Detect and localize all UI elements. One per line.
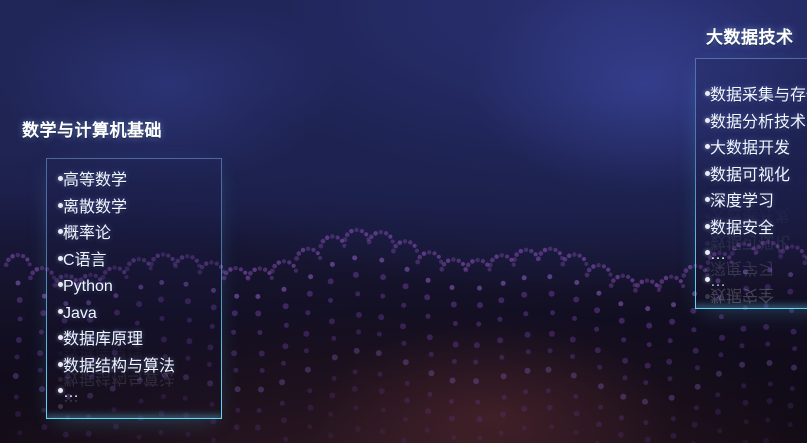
bullet-icon	[58, 203, 63, 208]
panel-math-cs-foundation: 数学与计算机基础 高等数学离散数学概率论C语言PythonJava数据库原理数据…	[0, 0, 280, 443]
list-item-label: 概率论	[63, 221, 111, 248]
bullet-icon	[58, 362, 63, 367]
bullet-icon	[58, 256, 63, 261]
list-item-label: 数据库原理	[63, 327, 143, 354]
bullet-icon	[58, 309, 63, 314]
list-item-label: 离散数学	[63, 195, 127, 222]
list-item-label: Python	[63, 274, 113, 301]
list-item[interactable]: 高等数学	[58, 168, 175, 195]
list-item-label: Java	[63, 301, 97, 328]
bullet-icon	[58, 388, 63, 393]
list-item[interactable]: …	[58, 380, 175, 407]
list-item[interactable]: 概率论	[58, 221, 175, 248]
panel-title-math-cs-foundation: 数学与计算机基础	[22, 116, 162, 141]
list-item-label: C语言	[63, 248, 107, 275]
bullet-icon	[58, 229, 63, 234]
slide-canvas: 数学与计算机基础 高等数学离散数学概率论C语言PythonJava数据库原理数据…	[0, 0, 807, 443]
panel-industry-applications: 特色行业应用 遥感大数据空间大数据工业大数据医疗大数据海洋大数据…… 海洋大数据…	[575, 0, 807, 443]
list-item[interactable]: Python	[58, 274, 175, 301]
bullet-icon	[58, 335, 63, 340]
list-item[interactable]: 数据结构与算法	[58, 354, 175, 381]
list-item[interactable]: 离散数学	[58, 195, 175, 222]
bullet-icon	[58, 282, 63, 287]
list-item-label: …	[63, 380, 79, 407]
panel-big-data-technology: 大数据技术 数据采集与存储数据分析技术大数据开发数据可视化深度学习数据安全…… …	[330, 0, 590, 443]
list-item[interactable]: C语言	[58, 248, 175, 275]
bullet-icon	[58, 176, 63, 181]
list-item-label: 高等数学	[63, 168, 127, 195]
list-item[interactable]: 数据库原理	[58, 327, 175, 354]
list-item[interactable]: Java	[58, 301, 175, 328]
list-item-label: 数据结构与算法	[63, 354, 175, 381]
item-list-math-cs-foundation: 高等数学离散数学概率论C语言PythonJava数据库原理数据结构与算法…	[58, 168, 175, 407]
